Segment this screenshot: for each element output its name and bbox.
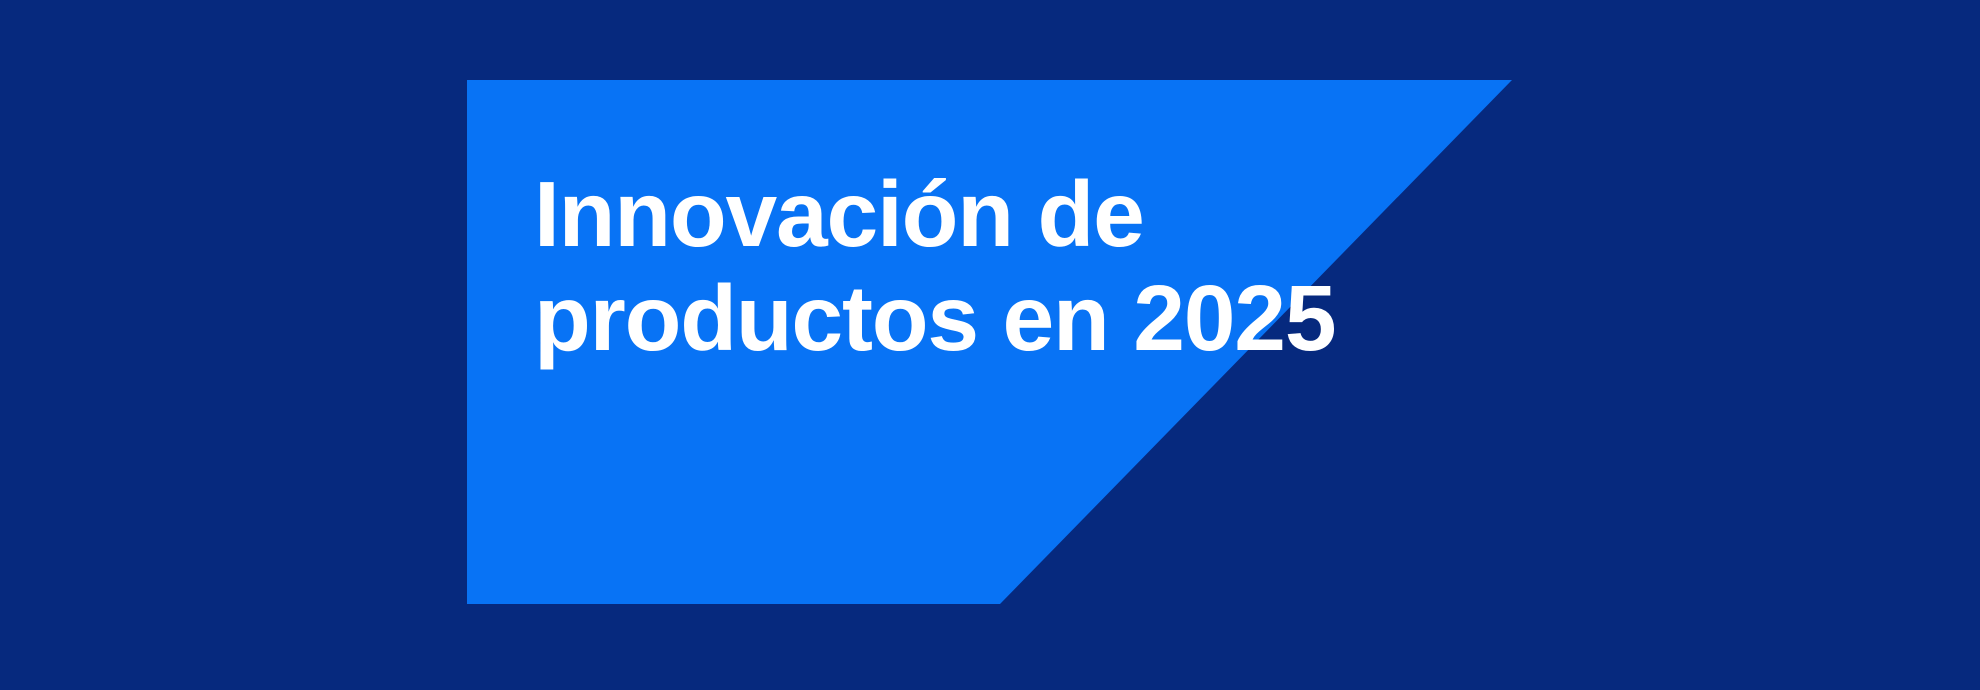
page-title-line-1: Innovación de [534, 162, 1734, 266]
page-title-line-2: productos en 2025 [534, 266, 1734, 370]
page-title: Innovación de productos en 2025 [534, 162, 1734, 370]
slide-canvas: Innovación de productos en 2025 [0, 0, 1980, 690]
